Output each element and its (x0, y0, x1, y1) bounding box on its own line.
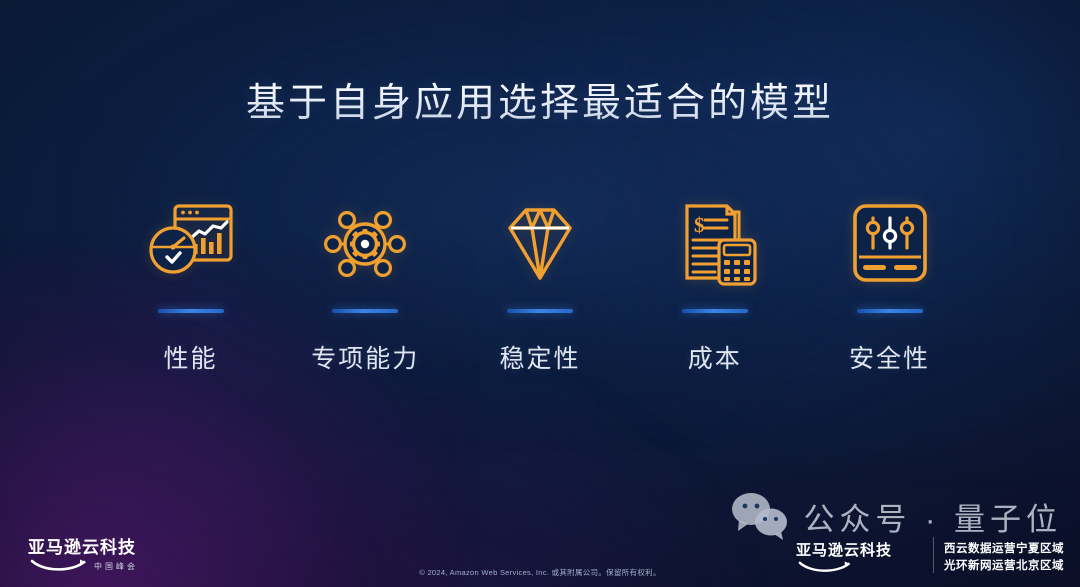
region-line-1: 西云数据运营宁夏区域 (944, 541, 1064, 558)
feature-label-security: 安全性 (849, 339, 930, 375)
slider-control-panel-icon (846, 196, 934, 292)
watermark-text: 公众号 · 量子位 (803, 494, 1062, 539)
feature-item-stability: 稳定性 (458, 196, 623, 375)
copyright-text: © 2024, Amazon Web Services, Inc. 或其附属公司… (0, 567, 1080, 578)
feature-item-capability: 专项能力 (283, 196, 448, 375)
feature-divider (332, 309, 398, 313)
svg-text:$: $ (694, 213, 705, 237)
aws-wordmark-right: 亚马逊云科技 (796, 543, 914, 558)
feature-label-cost: 成本 (688, 339, 742, 375)
page-title: 基于自身应用选择最适合的模型 (0, 72, 1080, 128)
footer-divider (933, 537, 934, 573)
feature-divider (857, 309, 923, 313)
feature-divider (682, 309, 748, 313)
region-line-2: 光环新网运营北京区域 (944, 558, 1064, 575)
feature-label-capability: 专项能力 (311, 339, 419, 375)
feature-item-security: 安全性 (807, 196, 972, 375)
slide-root: 基于自身应用选择最适合的模型 (0, 0, 1080, 587)
diamond-gem-icon (492, 196, 588, 292)
aws-smile-icon (798, 560, 856, 575)
feature-item-cost: $ 成本 (632, 196, 797, 375)
invoice-calculator-icon: $ (669, 196, 761, 292)
wechat-icon (729, 489, 791, 543)
feature-divider (507, 309, 573, 313)
aws-logo-right: 亚马逊云科技 (796, 543, 914, 577)
performance-dashboard-icon (143, 196, 239, 292)
region-info: 西云数据运营宁夏区域 光环新网运营北京区域 (944, 541, 1064, 576)
aws-wordmark: 亚马逊云科技 (28, 539, 148, 556)
feature-label-stability: 稳定性 (499, 339, 580, 375)
feature-divider (158, 309, 224, 313)
aws-smile-row-right (796, 560, 914, 577)
watermark: 公众号 · 量子位 (729, 489, 1062, 543)
network-hub-gear-icon (318, 196, 412, 292)
feature-list: 性能 (108, 196, 972, 375)
feature-label-performance: 性能 (163, 339, 217, 375)
feature-item-performance: 性能 (108, 196, 273, 375)
